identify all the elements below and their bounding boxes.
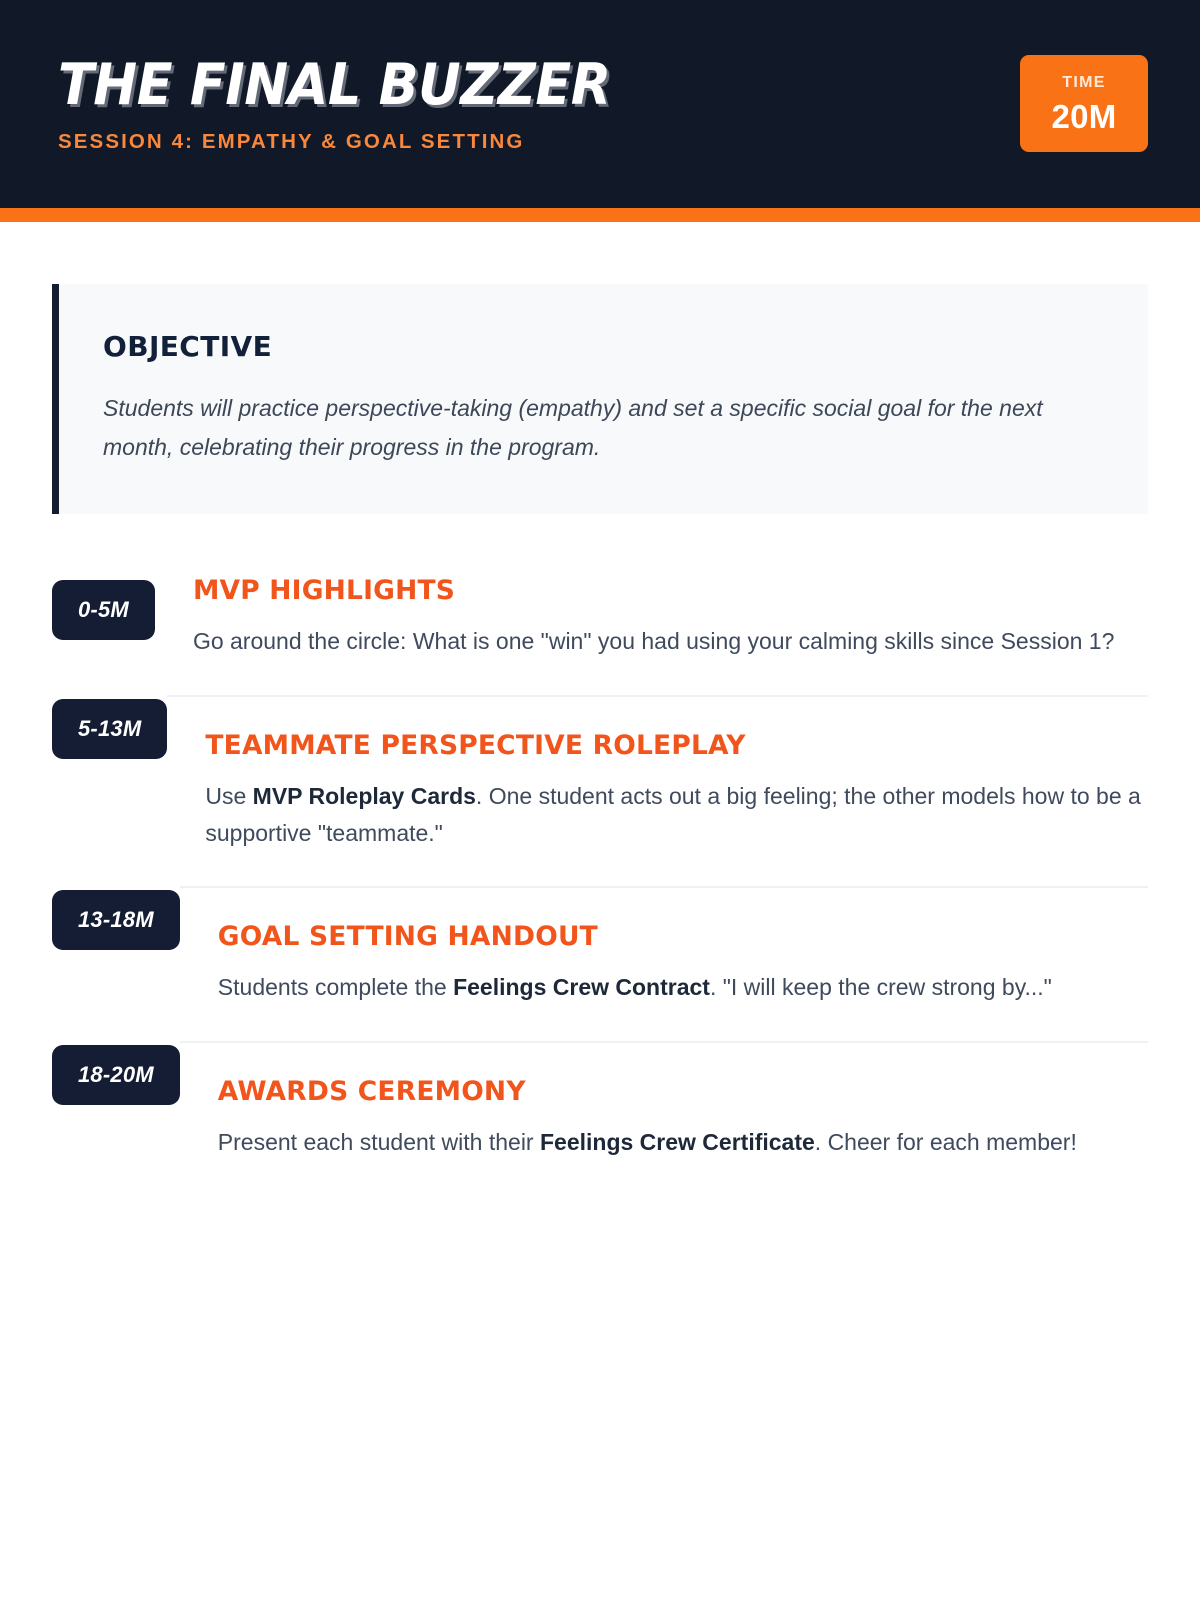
agenda-item-body: MVP HIGHLIGHTSGo around the circle: What… [155, 572, 1148, 690]
page-content: OBJECTIVE Students will practice perspec… [0, 222, 1200, 1191]
agenda-item-description: Go around the circle: What is one "win" … [193, 623, 1148, 660]
agenda-item: 13-18MGOAL SETTING HANDOUTStudents compl… [52, 882, 1148, 1036]
objective-text: Students will practice perspective-takin… [103, 389, 1063, 466]
agenda-item: 18-20MAWARDS CEREMONYPresent each studen… [52, 1037, 1148, 1191]
agenda-item-description: Students complete the Feelings Crew Cont… [218, 969, 1148, 1006]
page-header: THE FINAL BUZZER SESSION 4: EMPATHY & GO… [0, 0, 1200, 208]
agenda-item-heading: GOAL SETTING HANDOUT [218, 922, 1148, 951]
time-chip: 5-13M [52, 699, 167, 759]
agenda-item-body: AWARDS CEREMONYPresent each student with… [180, 1041, 1148, 1191]
agenda-item-heading: AWARDS CEREMONY [218, 1077, 1148, 1106]
time-chip: 0-5M [52, 580, 155, 640]
agenda-item: 5-13MTEAMMATE PERSPECTIVE ROLEPLAYUse MV… [52, 691, 1148, 883]
header-titles: THE FINAL BUZZER SESSION 4: EMPATHY & GO… [58, 52, 659, 154]
agenda-item-body: GOAL SETTING HANDOUTStudents complete th… [180, 886, 1148, 1036]
time-chip: 18-20M [52, 1045, 180, 1105]
agenda-item-body: TEAMMATE PERSPECTIVE ROLEPLAYUse MVP Rol… [167, 695, 1148, 883]
page-title: THE FINAL BUZZER [58, 56, 611, 116]
lesson-plan-page: THE FINAL BUZZER SESSION 4: EMPATHY & GO… [0, 0, 1200, 1600]
time-badge-value: 20M [1051, 100, 1116, 133]
objective-callout: OBJECTIVE Students will practice perspec… [52, 284, 1148, 514]
agenda-item-description: Use MVP Roleplay Cards. One student acts… [205, 778, 1148, 853]
agenda-item-heading: MVP HIGHLIGHTS [193, 576, 1148, 605]
agenda-item-heading: TEAMMATE PERSPECTIVE ROLEPLAY [205, 731, 1148, 760]
time-badge: TIME 20M [1020, 55, 1148, 152]
accent-divider-bar [0, 208, 1200, 222]
agenda-item-description: Present each student with their Feelings… [218, 1124, 1148, 1161]
objective-title: OBJECTIVE [103, 330, 1104, 363]
time-chip: 13-18M [52, 890, 180, 950]
session-subtitle: SESSION 4: EMPATHY & GOAL SETTING [58, 130, 659, 154]
agenda-item: 0-5MMVP HIGHLIGHTSGo around the circle: … [52, 572, 1148, 690]
agenda-list: 0-5MMVP HIGHLIGHTSGo around the circle: … [52, 572, 1148, 1191]
time-badge-label: TIME [1062, 75, 1105, 91]
